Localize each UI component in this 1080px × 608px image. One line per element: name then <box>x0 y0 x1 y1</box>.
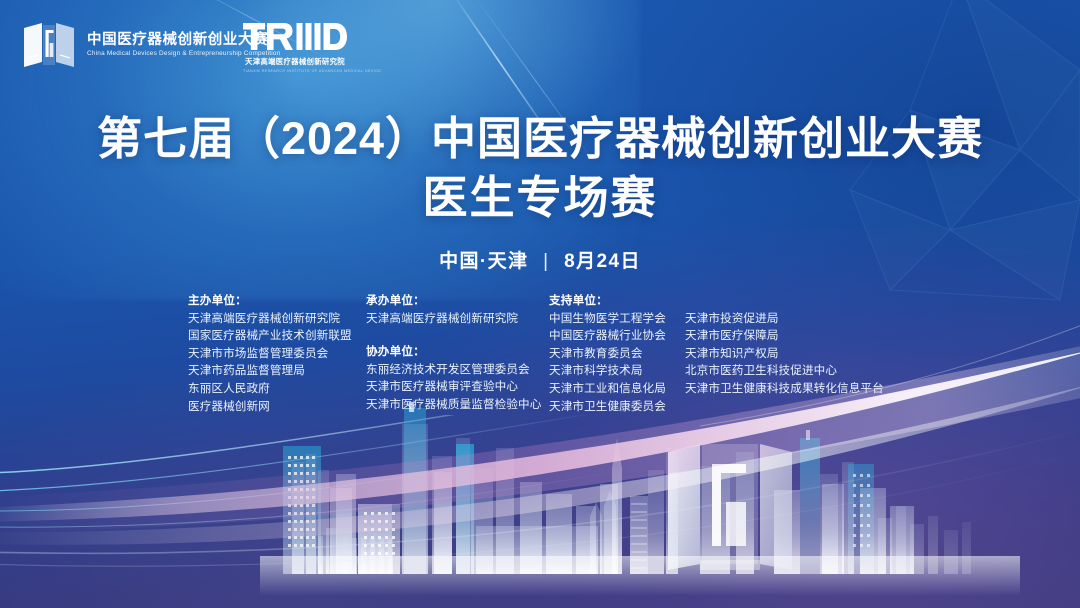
event-date: 8月24日 <box>564 251 641 272</box>
org-item: 天津高端医疗器械创新研究院 <box>366 310 549 328</box>
secondary-logo[interactable]: 天津高端医疗器械创新研究院 TIANJIN RESEARCH INSTITUTE… <box>243 20 353 73</box>
page-subtitle: 医生专场赛 <box>0 171 1080 224</box>
org-item: 天津市投资促进局 <box>685 310 884 328</box>
triiid-wordmark-icon <box>243 20 353 53</box>
primary-logo[interactable]: 中国医疗器械创新创业大赛 China Medical Devices Desig… <box>22 22 277 68</box>
separator: | <box>543 251 549 273</box>
poster-header: 中国医疗器械创新创业大赛 China Medical Devices Desig… <box>0 0 1080 96</box>
org-item: 东丽经济技术开发区管理委员会 <box>366 361 549 379</box>
org-heading-undertaker: 承办单位： <box>366 292 549 310</box>
secondary-logo-en-label: TIANJIN RESEARCH INSTITUTE OF ADVANCED M… <box>243 69 347 73</box>
secondary-logo-cn-label: 天津高端医疗器械创新研究院 <box>243 56 347 67</box>
org-item: 国家医疗器械产业技术创新联盟 <box>188 327 366 345</box>
event-place: 中国·天津 <box>439 251 528 272</box>
spacer <box>366 327 549 343</box>
org-item: 中国生物医学工程学会 <box>549 310 685 328</box>
title-block: 第七届（2024）中国医疗器械创新创业大赛 医生专场赛 中国·天津 | 8月24… <box>0 112 1080 273</box>
org-item: 天津市医疗保障局 <box>685 327 884 345</box>
org-item: 中国医疗器械行业协会 <box>549 327 685 345</box>
org-heading-spacer <box>685 292 884 310</box>
poster-canvas: 中国医疗器械创新创业大赛 China Medical Devices Desig… <box>0 0 1080 608</box>
page-title: 第七届（2024）中国医疗器械创新创业大赛 <box>0 112 1080 165</box>
event-place-date: 中国·天津 | 8月24日 <box>0 246 1080 273</box>
org-item: 天津高端医疗器械创新研究院 <box>188 310 366 328</box>
open-door-window-logo-icon <box>22 22 76 68</box>
city-skyline-silhouette-icon <box>0 378 1080 608</box>
org-item: 天津市市场监督管理委员会 <box>188 345 366 363</box>
org-heading-coorganizer: 协办单位： <box>366 343 549 361</box>
org-item: 天津市教育委员会 <box>549 345 685 363</box>
org-item: 天津市知识产权局 <box>685 345 884 363</box>
org-heading-host: 主办单位： <box>188 292 366 310</box>
org-heading-supporter: 支持单位： <box>549 292 685 310</box>
